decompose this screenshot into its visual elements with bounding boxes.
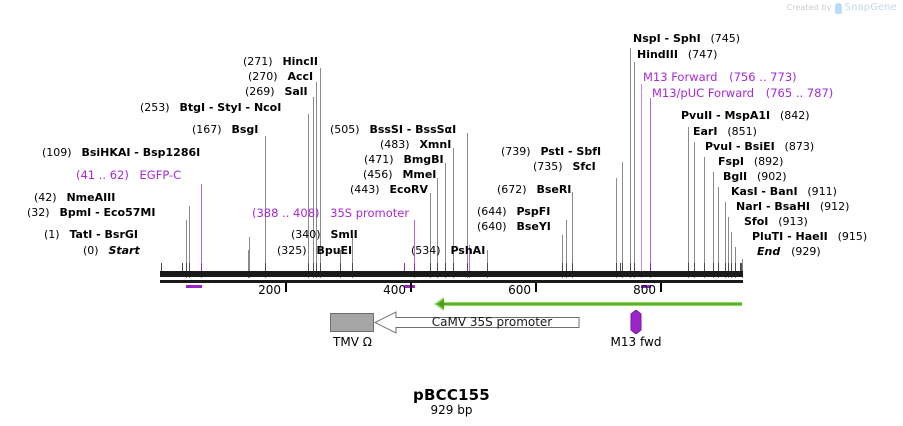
label-names: XmnI xyxy=(419,138,451,151)
label-position: (109) xyxy=(42,146,72,159)
label-names: PluTI - HaeII xyxy=(752,230,828,243)
label-position: (340) xyxy=(291,228,321,241)
label-position: (640) xyxy=(477,220,507,233)
ruler-tick-200 xyxy=(285,283,287,292)
label-bsgi[interactable]: (167) BsgI xyxy=(192,124,258,136)
label-names: BtgI - StyI - NcoI xyxy=(179,101,281,114)
label-position: (929) xyxy=(791,245,821,258)
label-hindiii[interactable]: HindIII (747) xyxy=(637,49,717,61)
label-names: BpuEI xyxy=(316,244,352,257)
label-position: (32) xyxy=(27,206,50,219)
label-nspi-sphi[interactable]: NspI - SphI (745) xyxy=(633,33,740,45)
label-pspfi[interactable]: (644) PspFI xyxy=(477,206,550,218)
label-position: (483) xyxy=(380,138,410,151)
label-position: (534) xyxy=(411,244,441,257)
label-names: BpmI - Eco57MI xyxy=(59,206,155,219)
ruler-tick-600 xyxy=(535,283,537,292)
label-names: MmeI xyxy=(402,168,436,181)
label-position: (911) xyxy=(807,185,837,198)
label-end[interactable]: End (929) xyxy=(757,246,821,258)
snapgene-logo-icon xyxy=(835,3,842,14)
green-feature-bar[interactable] xyxy=(443,302,742,306)
label-names: PshAI xyxy=(450,244,485,257)
label-position: (270) xyxy=(248,70,278,83)
feature-m13-fwd-label: M13 fwd xyxy=(596,335,676,349)
ruler-label-800: 800 xyxy=(620,283,656,297)
label-names: 35S promoter xyxy=(330,206,409,220)
label-position: (0) xyxy=(83,244,99,257)
label-bgli[interactable]: BglI (902) xyxy=(723,171,787,183)
label-position: (842) xyxy=(780,109,810,122)
label-names: KasI - BanI xyxy=(731,185,798,198)
label-tati-bsrgi[interactable]: (1) TatI - BsrGI xyxy=(44,229,138,241)
label-bsihkai-bsp1286i[interactable]: (109) BsiHKAI - Bsp1286I xyxy=(42,147,200,159)
green-feature-arrowhead-inner-icon xyxy=(437,299,444,309)
label-bsssi-bssai[interactable]: (505) BssSI - BssSαI xyxy=(330,124,456,136)
label-position: (1) xyxy=(44,228,60,241)
label-names: End xyxy=(757,245,780,258)
feature-tmv-omega-label: TMV Ω xyxy=(305,335,400,349)
label-position: (325) xyxy=(277,244,307,257)
label-names: BmgBI xyxy=(403,153,443,166)
label-pvui-bsiei[interactable]: PvuI - BsiEI (873) xyxy=(705,141,814,153)
label-position: (915) xyxy=(838,230,868,243)
label-position: (765 .. 787) xyxy=(766,86,834,100)
label-names: NarI - BsaHI xyxy=(736,200,810,213)
label-pvuii-mspa1i[interactable]: PvuII - MspA1I (842) xyxy=(681,110,810,122)
label-pshai[interactable]: (534) PshAI xyxy=(411,245,485,257)
label-position: (253) xyxy=(140,101,170,114)
feature-tmv-omega-box[interactable] xyxy=(330,313,374,332)
label-names: BsiHKAI - Bsp1286I xyxy=(81,146,200,159)
leader-line-pvuii xyxy=(688,127,689,278)
watermark-brand: SnapGene xyxy=(845,2,897,13)
label-names: NmeAIII xyxy=(66,191,115,204)
label-position: (735) xyxy=(533,160,563,173)
label-sfci[interactable]: (735) SfcI xyxy=(533,161,596,173)
label-m13-forward[interactable]: M13 Forward (756 .. 773) xyxy=(643,71,797,83)
label-names: HindIII xyxy=(637,48,678,61)
label-bpuei[interactable]: (325) BpuEI xyxy=(277,245,352,257)
label-sfoi[interactable]: SfoI (913) xyxy=(744,216,808,228)
label-position: (167) xyxy=(192,123,222,136)
label-names: Start xyxy=(108,244,139,257)
leader-line-hindiii xyxy=(634,62,635,278)
label-names: PvuI - BsiEI xyxy=(705,140,775,153)
label-mmei[interactable]: (456) MmeI xyxy=(363,169,436,181)
label-position: (756 .. 773) xyxy=(729,70,797,84)
plasmid-size: 929 bp xyxy=(0,403,903,417)
label-names: PspFI xyxy=(516,205,550,218)
feature-camv-35s-label: CaMV 35S promoter xyxy=(404,315,580,329)
label-start[interactable]: (0) Start xyxy=(83,245,140,257)
label-position: (388 .. 408) xyxy=(252,206,320,220)
label-position: (745) xyxy=(711,32,741,45)
leader-line-m13-forward xyxy=(641,84,642,278)
leader-line-psti xyxy=(622,162,623,278)
label-position: (41 .. 62) xyxy=(76,168,129,182)
label-position: (851) xyxy=(727,125,757,138)
label-names: M13/pUC Forward xyxy=(652,86,754,100)
plasmid-backbone[interactable] xyxy=(160,271,743,277)
label-bseyi[interactable]: (640) BseYI xyxy=(477,221,551,233)
label-names: EcoRV xyxy=(389,183,428,196)
leader-line-pvui xyxy=(704,157,705,278)
label-position: (443) xyxy=(350,183,380,196)
label-names: SalI xyxy=(284,85,307,98)
label-position: (739) xyxy=(501,145,531,158)
label-names: BsgI xyxy=(231,123,258,136)
ruler-label-200: 200 xyxy=(245,283,281,297)
label-nmeaiii[interactable]: (42) NmeAIII xyxy=(34,192,115,204)
label-position: (873) xyxy=(785,140,815,153)
label-names: M13 Forward xyxy=(643,70,717,84)
label-smli[interactable]: (340) SmlI xyxy=(291,229,358,241)
label-names: SmlI xyxy=(330,228,357,241)
label-names: BseRI xyxy=(536,183,571,196)
label-position: (271) xyxy=(243,55,273,68)
label-position: (892) xyxy=(754,155,784,168)
label-acci[interactable]: (270) AccI xyxy=(248,71,313,83)
watermark-prefix: Created by xyxy=(787,3,832,12)
label-position: (747) xyxy=(688,48,718,61)
leader-line-eari xyxy=(694,142,695,278)
label-names: FspI xyxy=(718,155,744,168)
label-hincii[interactable]: (271) HincII xyxy=(243,56,318,68)
label-bpmi-eco57mi[interactable]: (32) BpmI - Eco57MI xyxy=(27,207,155,219)
label-names: EGFP-C xyxy=(140,168,182,182)
label-ecorv[interactable]: (443) EcoRV xyxy=(350,184,428,196)
label-position: (269) xyxy=(245,85,275,98)
label-names: BssSI - BssSαI xyxy=(369,123,456,136)
label-names: NspI - SphI xyxy=(633,32,701,45)
label-position: (913) xyxy=(778,215,808,228)
label-nari-bsahi[interactable]: NarI - BsaHI (912) xyxy=(736,201,849,213)
label-names: EarI xyxy=(693,125,717,138)
label-names: SfoI xyxy=(744,215,768,228)
ruler-label-600: 600 xyxy=(495,283,531,297)
label-names: PvuII - MspA1I xyxy=(681,109,770,122)
snapgene-map-canvas: Created by SnapGene xyxy=(0,0,903,426)
label-position: (672) xyxy=(497,183,527,196)
leader-line-m13-puc-forward xyxy=(650,98,651,278)
label-kasi-bani[interactable]: KasI - BanI (911) xyxy=(731,186,837,198)
label-position: (456) xyxy=(363,168,393,181)
label-fspi[interactable]: FspI (892) xyxy=(718,156,783,168)
label-position: (644) xyxy=(477,205,507,218)
label-position: (42) xyxy=(34,191,57,204)
ruler-tick-400 xyxy=(410,283,412,292)
label-names: PstI - SbfI xyxy=(540,145,601,158)
label-35s-promoter[interactable]: (388 .. 408) 35S promoter xyxy=(252,207,409,219)
label-names: AccI xyxy=(287,70,313,83)
label-egfp-c[interactable]: (41 .. 62) EGFP-C xyxy=(76,169,181,181)
label-bseri[interactable]: (672) BseRI xyxy=(497,184,571,196)
label-pluti-haeii[interactable]: PluTI - HaeII (915) xyxy=(752,231,867,243)
label-bmgbi[interactable]: (471) BmgBI xyxy=(364,154,444,166)
label-position: (902) xyxy=(757,170,787,183)
label-names: BseYI xyxy=(516,220,550,233)
plasmid-name: pBCC155 xyxy=(0,386,903,404)
label-btgi-styi-ncoi[interactable]: (253) BtgI - StyI - NcoI xyxy=(140,102,281,114)
label-position: (912) xyxy=(820,200,850,213)
label-psti-sbfi[interactable]: (739) PstI - SbfI xyxy=(501,146,601,158)
label-names: TatI - BsrGI xyxy=(69,228,138,241)
ruler-label-400: 400 xyxy=(370,283,406,297)
feature-m13-fwd-primer-icon[interactable] xyxy=(628,310,644,334)
leader-line-bmgbi xyxy=(445,163,446,278)
label-names: SfcI xyxy=(572,160,595,173)
label-names: HincII xyxy=(282,55,318,68)
leader-line-nspi xyxy=(630,48,631,278)
label-eari[interactable]: EarI (851) xyxy=(693,126,757,138)
label-m13-puc-forward[interactable]: M13/pUC Forward (765 .. 787) xyxy=(652,87,833,99)
feature-span-egfp-c xyxy=(186,285,202,288)
label-names: BglI xyxy=(723,170,747,183)
label-position: (505) xyxy=(330,123,360,136)
label-sali[interactable]: (269) SalI xyxy=(245,86,308,98)
leader-line-xmni xyxy=(453,148,454,278)
ruler-tick-800 xyxy=(660,283,662,292)
label-position: (471) xyxy=(364,153,394,166)
label-xmni[interactable]: (483) XmnI xyxy=(380,139,451,151)
snapgene-watermark: Created by SnapGene xyxy=(787,2,897,13)
